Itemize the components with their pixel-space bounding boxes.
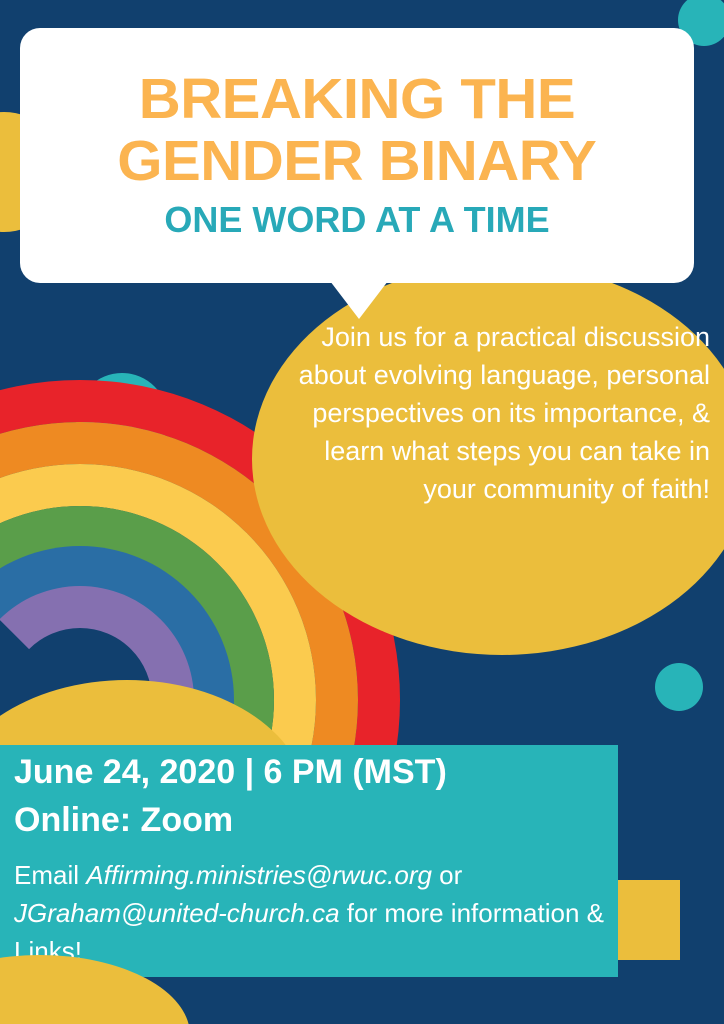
details-panel-content: June 24, 2020 | 6 PM (MST) Online: Zoom … xyxy=(14,748,614,970)
page-title-line-1: BREAKING THE xyxy=(139,68,575,130)
decoration-circle-teal-right xyxy=(655,663,703,711)
contact-prefix: Email xyxy=(14,860,86,890)
page-title-line-2: GENDER BINARY xyxy=(117,130,596,192)
contact-info: Email Affirming.ministries@rwuc.org or J… xyxy=(14,856,614,970)
event-datetime: June 24, 2020 | 6 PM (MST) xyxy=(14,748,614,796)
poster-canvas: BREAKING THE GENDER BINARY ONE WORD AT A… xyxy=(0,0,724,1024)
contact-email-primary[interactable]: Affirming.ministries@rwuc.org xyxy=(86,860,432,890)
speech-bubble-tail xyxy=(330,281,388,319)
title-block: BREAKING THE GENDER BINARY ONE WORD AT A… xyxy=(20,28,694,283)
contact-email-secondary[interactable]: JGraham@united-church.ca xyxy=(14,898,340,928)
page-subtitle: ONE WORD AT A TIME xyxy=(164,196,549,244)
event-location: Online: Zoom xyxy=(14,796,614,844)
contact-joiner: or xyxy=(432,860,462,890)
body-paragraph: Join us for a practical discussion about… xyxy=(288,318,710,508)
